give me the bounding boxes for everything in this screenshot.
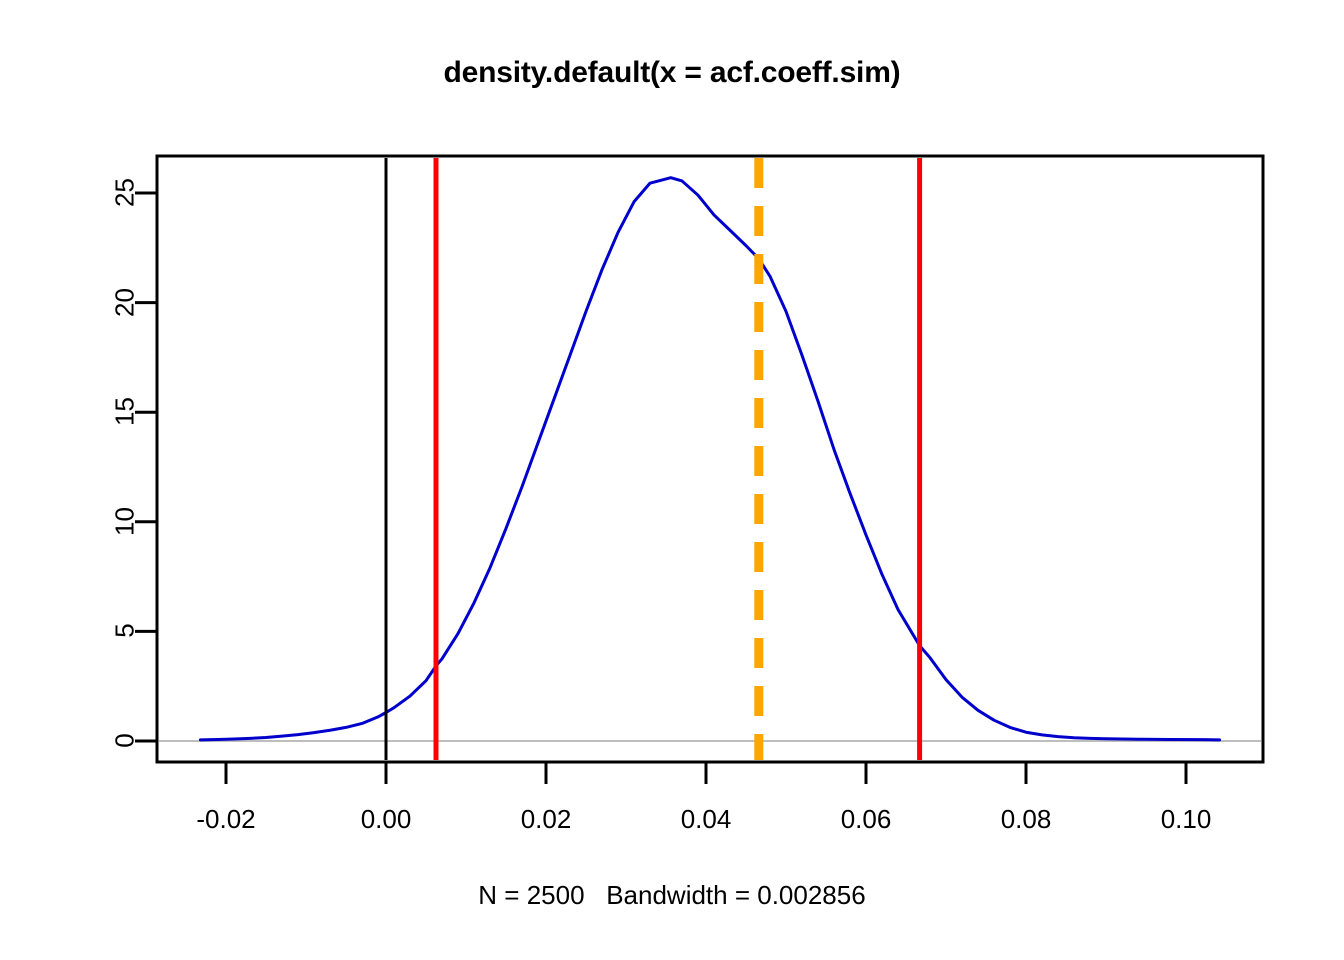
x-axis-tick-label: 0.04 xyxy=(681,804,732,835)
x-axis-tick-label: 0.00 xyxy=(361,804,412,835)
axes-group xyxy=(135,156,1263,784)
x-axis-tick-label: 0.08 xyxy=(1001,804,1052,835)
x-axis-tick-label: 0.10 xyxy=(1161,804,1212,835)
chart-subtitle: N = 2500 Bandwidth = 0.002856 xyxy=(0,880,1344,911)
density-plot: density.default(x = acf.coeff.sim) Densi… xyxy=(0,0,1344,960)
x-axis-tick-label: -0.02 xyxy=(196,804,255,835)
y-axis-tick-label: 20 xyxy=(110,259,141,345)
y-axis-tick-label: 0 xyxy=(110,698,141,784)
y-axis-tick-label: 15 xyxy=(110,369,141,455)
density-curve-group xyxy=(200,178,1219,740)
vertical-reference-lines xyxy=(386,158,920,760)
density-curve xyxy=(200,178,1219,740)
x-axis-ticks xyxy=(226,762,1186,784)
x-axis-tick-label: 0.06 xyxy=(841,804,892,835)
y-axis-tick-label: 25 xyxy=(110,150,141,236)
y-axis-tick-label: 5 xyxy=(110,588,141,674)
y-axis-tick-label: 10 xyxy=(110,478,141,564)
x-axis-tick-label: 0.02 xyxy=(521,804,572,835)
plot-box-frame xyxy=(157,156,1263,762)
